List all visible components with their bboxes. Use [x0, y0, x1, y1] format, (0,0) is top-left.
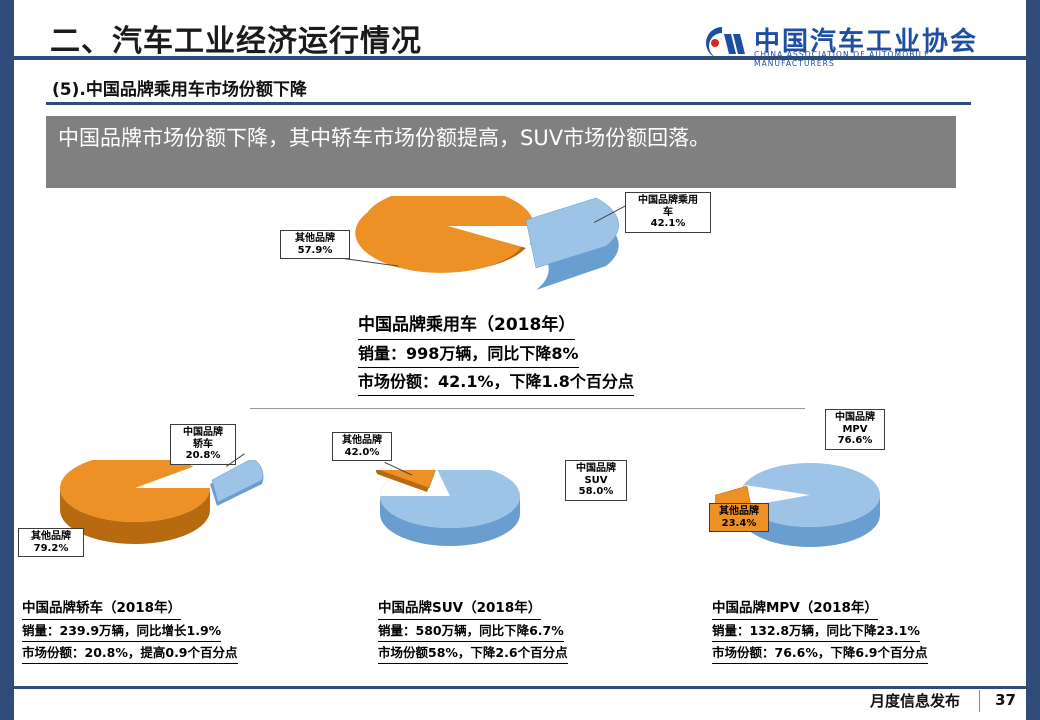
- label-pv-blue-value: 42.1%: [629, 218, 707, 230]
- footer-separator: [979, 690, 980, 712]
- slide: 二、汽车工业经济运行情况 中国汽车工业协会 CHINA ASSOCIATION …: [0, 0, 1040, 720]
- label-mpv-blue: 中国品牌 MPV 76.6%: [825, 409, 885, 450]
- caption-pv-line2: 销量：998万辆，同比下降8%: [358, 340, 788, 368]
- label-pv-blue-line2: 车: [629, 207, 707, 219]
- label-pv-blue: 中国品牌乘用 车 42.1%: [625, 192, 711, 233]
- chart-passenger-vehicle: 中国品牌乘用 车 42.1% 其他品牌 57.9%: [330, 196, 660, 316]
- label-mpv-blue-value: 76.6%: [829, 435, 881, 447]
- section-divider: [250, 408, 805, 409]
- caption-mpv: 中国品牌MPV（2018年） 销量：132.8万辆，同比下降23.1% 市场份额…: [712, 598, 1022, 664]
- label-sedan-orange-value: 79.2%: [22, 543, 80, 555]
- caption-mpv-line3: 市场份额：76.6%，下降6.9个百分点: [712, 642, 1022, 664]
- page-number: 37: [995, 691, 1016, 709]
- caption-suv-line3: 市场份额58%，下降2.6个百分点: [378, 642, 698, 664]
- section-subtitle: (5).中国品牌乘用车市场份额下降: [52, 75, 307, 100]
- label-pv-orange-line1: 其他品牌: [284, 233, 346, 245]
- caption-pv-line3: 市场份额：42.1%，下降1.8个百分点: [358, 368, 788, 396]
- caption-pv-title: 中国品牌乘用车（2018年）: [358, 312, 788, 340]
- caption-passenger-vehicle: 中国品牌乘用车（2018年） 销量：998万辆，同比下降8% 市场份额：42.1…: [358, 312, 788, 396]
- header-divider: [14, 56, 1026, 60]
- label-sedan-blue-line2: 轿车: [174, 439, 232, 451]
- label-suv-blue-value: 58.0%: [569, 486, 623, 498]
- label-suv-orange: 其他品牌 42.0%: [332, 432, 392, 461]
- label-suv-orange-line1: 其他品牌: [336, 435, 388, 447]
- label-sedan-blue-line1: 中国品牌: [174, 427, 232, 439]
- label-pv-orange: 其他品牌 57.9%: [280, 230, 350, 259]
- chart-suv: 中国品牌 SUV 58.0% 其他品牌 42.0%: [375, 470, 625, 580]
- caption-suv-line2: 销量：580万辆，同比下降6.7%: [378, 620, 698, 642]
- label-pv-blue-line1: 中国品牌乘用: [629, 195, 707, 207]
- caption-suv-title: 中国品牌SUV（2018年）: [378, 598, 698, 620]
- left-border: [0, 0, 14, 720]
- caption-mpv-title: 中国品牌MPV（2018年）: [712, 598, 1022, 620]
- label-suv-blue-line2: SUV: [569, 475, 623, 487]
- footer-divider: [14, 686, 1026, 689]
- callout-text: 中国品牌市场份额下降，其中轿车市场份额提高，SUV市场份额回落。: [58, 123, 948, 154]
- chart-mpv: 中国品牌 MPV 76.6% 其他品牌 23.4%: [715, 455, 965, 575]
- right-border: [1026, 0, 1040, 720]
- caption-sedan-line3: 市场份额：20.8%，提高0.9个百分点: [22, 642, 342, 664]
- label-sedan-blue-value: 20.8%: [174, 450, 232, 462]
- subtitle-divider: [46, 102, 971, 105]
- label-suv-blue-line1: 中国品牌: [569, 463, 623, 475]
- label-sedan-orange-line1: 其他品牌: [22, 531, 80, 543]
- caption-suv: 中国品牌SUV（2018年） 销量：580万辆，同比下降6.7% 市场份额58%…: [378, 598, 698, 664]
- label-mpv-orange-line1: 其他品牌: [713, 506, 765, 518]
- label-suv-blue: 中国品牌 SUV 58.0%: [565, 460, 627, 501]
- caption-sedan-title: 中国品牌轿车（2018年）: [22, 598, 342, 620]
- label-sedan-blue: 中国品牌 轿车 20.8%: [170, 424, 236, 465]
- label-mpv-orange-value: 23.4%: [713, 518, 765, 530]
- label-mpv-blue-line2: MPV: [829, 424, 881, 436]
- caption-sedan: 中国品牌轿车（2018年） 销量：239.9万辆，同比增长1.9% 市场份额：2…: [22, 598, 342, 664]
- slide-header: 二、汽车工业经济运行情况 中国汽车工业协会 CHINA ASSOCIATION …: [30, 14, 1010, 62]
- caption-mpv-line2: 销量：132.8万辆，同比下降23.1%: [712, 620, 1022, 642]
- highlight-callout: 中国品牌市场份额下降，其中轿车市场份额提高，SUV市场份额回落。: [46, 116, 956, 188]
- caption-sedan-line2: 销量：239.9万辆，同比增长1.9%: [22, 620, 342, 642]
- footer-label: 月度信息发布: [870, 690, 960, 711]
- label-suv-orange-value: 42.0%: [336, 447, 388, 459]
- label-mpv-blue-line1: 中国品牌: [829, 412, 881, 424]
- label-mpv-orange: 其他品牌 23.4%: [709, 503, 769, 532]
- label-pv-orange-value: 57.9%: [284, 245, 346, 257]
- label-sedan-orange: 其他品牌 79.2%: [18, 528, 84, 557]
- chart-sedan: 中国品牌 轿车 20.8% 其他品牌 79.2%: [40, 460, 310, 570]
- page-title: 二、汽车工业经济运行情况: [50, 16, 422, 60]
